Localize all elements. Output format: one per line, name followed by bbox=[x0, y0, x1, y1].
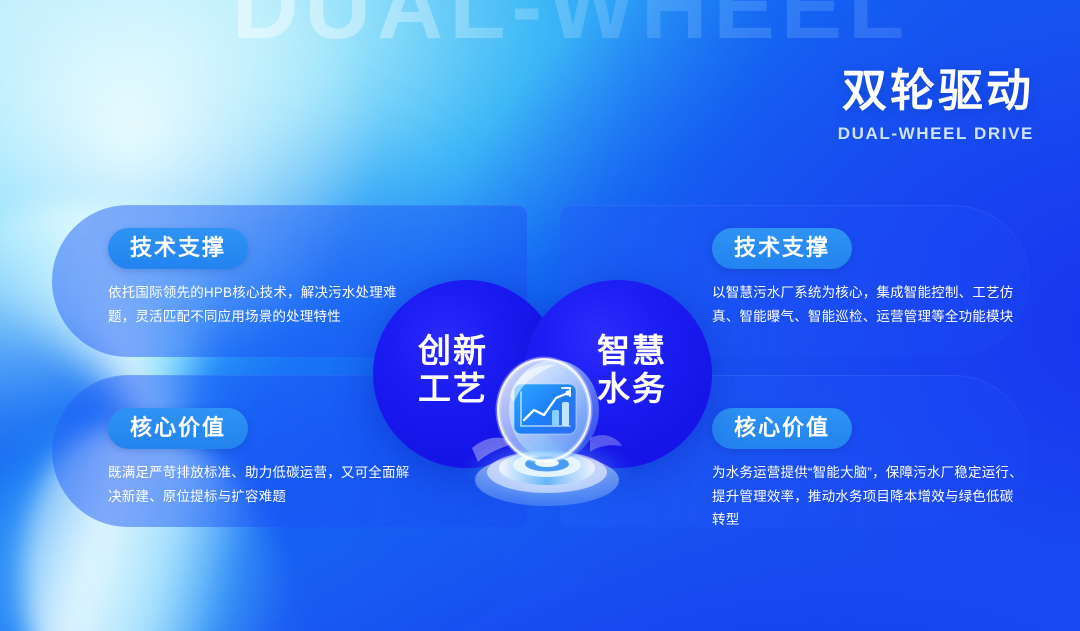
slide-canvas: DUAL-WHEEL 双轮驱动 DUAL-WHEEL DRIVE 技术支撑 依托… bbox=[0, 0, 1080, 631]
chart-sphere-icon bbox=[452, 352, 642, 512]
page-subtitle: DUAL-WHEEL DRIVE bbox=[838, 124, 1034, 144]
title-block: 双轮驱动 DUAL-WHEEL DRIVE bbox=[838, 66, 1034, 144]
desc-left-top: 依托国际领先的HPB核心技术，解决污水处理难题，灵活匹配不同应用场景的处理特性 bbox=[108, 281, 420, 327]
badge-right-top: 技术支撑 bbox=[712, 228, 852, 269]
desc-right-bottom: 为水务运营提供“智能大脑”，保障污水厂稳定运行、提升管理效率，推动水务项目降本增… bbox=[712, 461, 1024, 531]
card-left-top: 技术支撑 依托国际领先的HPB核心技术，解决污水处理难题，灵活匹配不同应用场景的… bbox=[108, 228, 438, 328]
card-right-top: 技术支撑 以智慧污水厂系统为核心，集成智能控制、工艺仿真、智能曝气、智能巡检、运… bbox=[712, 228, 1030, 328]
badge-left-top: 技术支撑 bbox=[108, 228, 248, 269]
desc-left-bottom: 既满足严苛排放标准、助力低碳运营，又可全面解决新建、原位提标与扩容难题 bbox=[108, 461, 420, 507]
page-title: 双轮驱动 bbox=[838, 66, 1034, 116]
badge-right-bottom: 核心价值 bbox=[712, 408, 852, 449]
card-right-bottom: 核心价值 为水务运营提供“智能大脑”，保障污水厂稳定运行、提升管理效率，推动水务… bbox=[712, 408, 1030, 531]
badge-left-bottom: 核心价值 bbox=[108, 408, 248, 449]
desc-right-top: 以智慧污水厂系统为核心，集成智能控制、工艺仿真、智能曝气、智能巡检、运营管理等全… bbox=[712, 281, 1024, 327]
chart-sphere-svg bbox=[452, 352, 642, 512]
